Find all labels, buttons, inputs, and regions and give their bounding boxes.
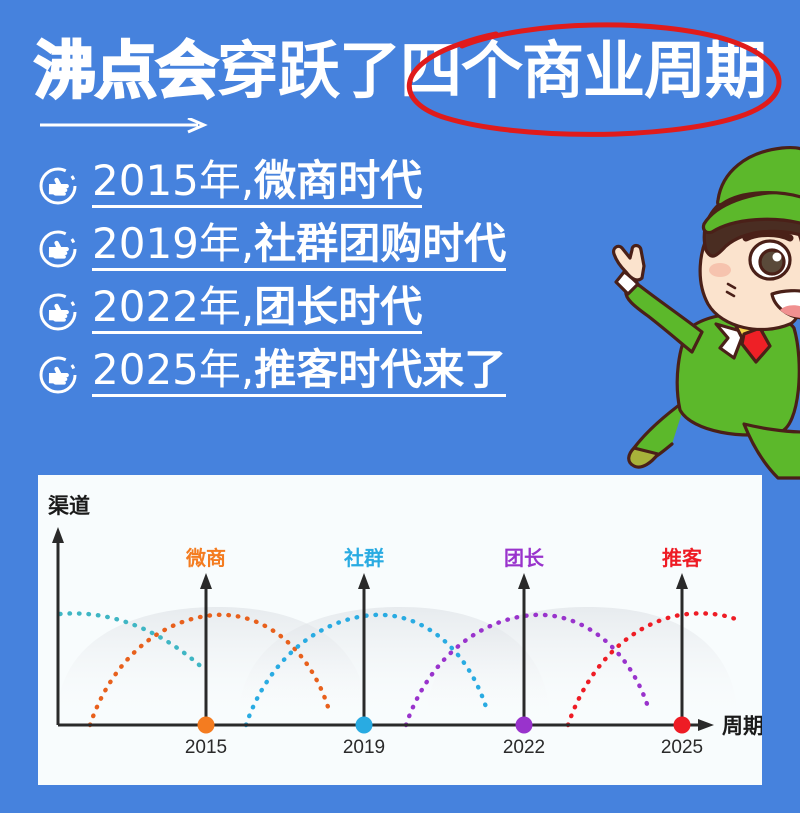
list-item-era: 推客时代来了: [254, 345, 506, 394]
pointing-hand-circle-icon: [38, 355, 78, 395]
x-tick-label-2025: 2025: [661, 737, 703, 758]
chart-shading: [56, 607, 738, 725]
pointing-hand-circle-icon: [38, 166, 78, 206]
pointing-hand-circle-icon: [38, 292, 78, 332]
x-tick-label-2019: 2019: [343, 737, 385, 758]
list-item-era: 微商时代: [254, 156, 422, 205]
cycle-chart: 微商 社群 团长 推客 2015 2019 2022 2025 渠道 周期: [38, 475, 762, 785]
poster-root: 沸点会穿跃了四个商业周期 2015年,微商时代 2019年,社群: [0, 0, 800, 813]
x-tick-label-2015: 2015: [185, 737, 227, 758]
tick-dot-2025: [674, 717, 691, 734]
tick-dot-2022: [516, 717, 533, 734]
list-item[interactable]: 2025年,推客时代来了: [38, 341, 506, 404]
list-item-text: 2015年,微商时代: [92, 159, 422, 207]
tick-dot-2015: [198, 717, 215, 734]
list-item-era: 社群团购时代: [254, 219, 506, 268]
title-brand: 沸点会: [34, 34, 217, 107]
list-item-year: 2019年,: [92, 219, 254, 268]
era-label-shequn: 社群: [343, 546, 384, 570]
list-item-era: 团长时代: [254, 282, 422, 331]
list-item[interactable]: 2015年,微商时代: [38, 152, 506, 215]
bullet-list: 2015年,微商时代 2019年,社群团购时代 2022年,团长时代: [38, 152, 506, 404]
era-label-tuanzhang: 团长: [504, 546, 545, 570]
list-item[interactable]: 2022年,团长时代: [38, 278, 506, 341]
x-axis-title: 周期: [722, 714, 762, 738]
long-right-arrow-icon: [38, 118, 218, 136]
era-label-tuike: 推客: [662, 546, 703, 570]
list-item-text: 2019年,社群团购时代: [92, 222, 506, 270]
cartoon-man-pointing-up: [594, 132, 800, 484]
list-item[interactable]: 2019年,社群团购时代: [38, 215, 506, 278]
era-label-weishang: 微商: [185, 546, 226, 570]
cycle-chart-panel: 微商 社群 团长 推客 2015 2019 2022 2025 渠道 周期: [38, 475, 762, 785]
y-axis-title: 渠道: [48, 494, 90, 518]
page-title: 沸点会穿跃了四个商业周期: [34, 40, 794, 102]
list-item-text: 2025年,推客时代来了: [92, 348, 506, 396]
tick-dot-2019: [356, 717, 373, 734]
title-rest: 穿跃了四个商业周期: [217, 34, 766, 107]
list-item-year: 2025年,: [92, 345, 254, 394]
list-item-year: 2015年,: [92, 156, 254, 205]
list-item-year: 2022年,: [92, 282, 254, 331]
list-item-text: 2022年,团长时代: [92, 285, 422, 333]
pointing-hand-circle-icon: [38, 229, 78, 269]
x-tick-label-2022: 2022: [503, 737, 545, 758]
